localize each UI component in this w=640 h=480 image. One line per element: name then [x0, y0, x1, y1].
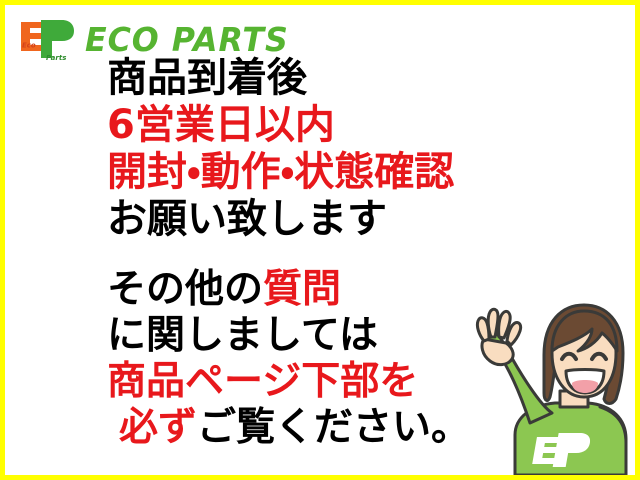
notice-line-1: 商品到着後 [107, 55, 635, 102]
notice-line-3: 開封・動作・状態確認 [107, 149, 635, 196]
notice-line-1-text: 商品到着後 [107, 55, 307, 101]
notice-line-8-text-b: ご覧ください。 [197, 405, 470, 450]
notice-line-7-text: 商品ページ下部を [107, 359, 418, 404]
notice-line-5-text-b: 質問 [263, 267, 341, 312]
notice-banner: Eco Parts ECO PARTS 商品到着後 6営業日以内 開封・動作・状… [0, 0, 640, 480]
mark-text-eco: Eco [22, 42, 36, 50]
mascot-hand [477, 309, 520, 364]
notice-line-3-text: 開封・動作・状態確認 [107, 149, 454, 195]
notice-text-top: 商品到着後 6営業日以内 開封・動作・状態確認 お願い致します [5, 55, 635, 243]
brand-wordmark: ECO PARTS [85, 23, 289, 56]
notice-line-6-text: に関しましては [107, 313, 378, 358]
notice-line-4-text: お願い致します [107, 196, 387, 242]
notice-line-2-text: 6営業日以内 [107, 102, 335, 148]
notice-line-4: お願い致します [107, 196, 635, 243]
notice-line-5-text-a: その他の [107, 267, 263, 312]
notice-line-2: 6営業日以内 [107, 102, 635, 149]
notice-line-8-text-a: 必ず [119, 405, 197, 450]
mascot-illustration [460, 295, 635, 475]
